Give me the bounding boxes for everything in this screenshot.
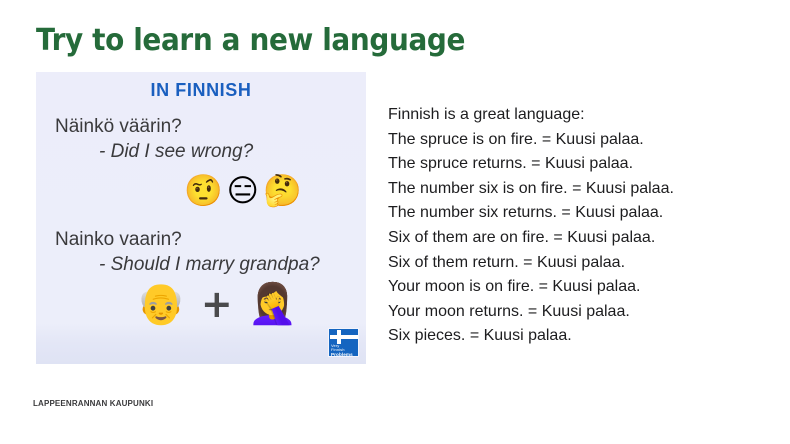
list-item: The spruce is on fire. = Kuusi palaa.: [388, 128, 783, 153]
list-item: Six pieces. = Kuusi palaa.: [388, 324, 783, 349]
phrase-translation-text: - Did I see wrong?: [99, 139, 355, 165]
phrase-native-text: Näinkö väärin?: [55, 114, 355, 139]
badge-line-3: Problems: [331, 353, 358, 357]
phrase-block-1: Näinkö väärin? - Did I see wrong?: [55, 114, 355, 165]
finnish-flag-icon: [330, 330, 359, 344]
panel-heading: IN FINNISH: [36, 80, 366, 101]
plus-sign-icon: +: [199, 284, 235, 324]
phrase-block-2: Nainko vaarin? - Should I marry grandpa?: [55, 227, 355, 278]
face-with-raised-eyebrow-icon: 🤨: [184, 174, 223, 208]
woman-facepalming-icon: 🤦‍♀️: [248, 282, 298, 326]
list-item: Six of them return. = Kuusi palaa.: [388, 251, 783, 276]
old-man-icon: 👴: [136, 282, 186, 326]
thinking-face-icon: 🤔: [263, 174, 302, 208]
presentation-slide: Try to learn a new language IN FINNISH N…: [0, 0, 790, 444]
emoji-row-1: 🤨 😑 🤔: [184, 174, 302, 208]
list-item: The number six returns. = Kuusi palaa.: [388, 201, 783, 226]
very-finnish-problems-badge: Very Finnish Problems: [328, 328, 359, 357]
expressionless-face-icon: 😑: [227, 174, 259, 208]
emoji-row-2: 👴 + 🤦‍♀️: [136, 282, 297, 326]
footer-organization-name: LAPPEENRANNAN KAUPUNKI: [33, 399, 153, 408]
badge-caption: Very Finnish Problems: [331, 344, 358, 357]
list-item: The number six is on fire. = Kuusi palaa…: [388, 177, 783, 202]
list-item: The spruce returns. = Kuusi palaa.: [388, 152, 783, 177]
phrase-translation-text: - Should I marry grandpa?: [99, 252, 355, 278]
translation-list: Finnish is a great language: The spruce …: [388, 103, 783, 349]
list-item: Finnish is a great language:: [388, 103, 783, 128]
list-item: Your moon returns. = Kuusi palaa.: [388, 300, 783, 325]
phrase-native-text: Nainko vaarin?: [55, 227, 355, 252]
list-item: Six of them are on fire. = Kuusi palaa.: [388, 226, 783, 251]
page-title: Try to learn a new language: [36, 24, 465, 58]
in-finnish-panel: IN FINNISH Näinkö väärin? - Did I see wr…: [36, 72, 366, 364]
list-item: Your moon is on fire. = Kuusi palaa.: [388, 275, 783, 300]
